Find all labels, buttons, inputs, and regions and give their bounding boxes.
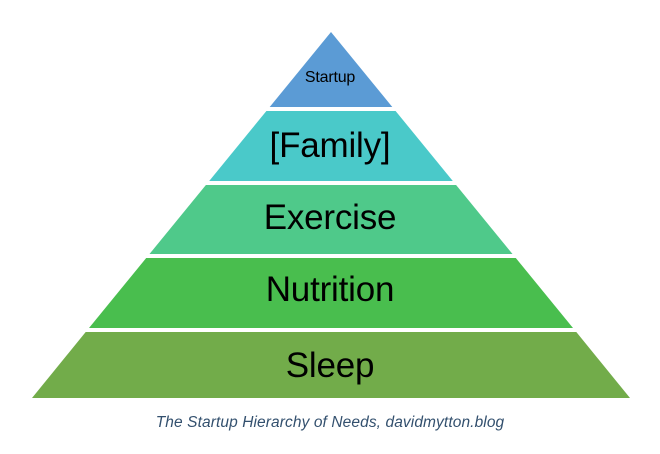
pyramid-tier-4-nutrition[interactable] [89, 258, 573, 328]
pyramid-shape [0, 0, 660, 410]
pyramid-tier-2-family[interactable] [209, 111, 453, 181]
diagram-canvas: Startup [Family] Exercise Nutrition Slee… [0, 0, 660, 454]
pyramid-tier-1-startup[interactable] [270, 32, 393, 107]
diagram-caption: The Startup Hierarchy of Needs, davidmyt… [0, 414, 660, 432]
pyramid-tier-5-sleep[interactable] [32, 332, 630, 398]
pyramid-diagram: Startup [Family] Exercise Nutrition Slee… [0, 0, 660, 410]
pyramid-tier-3-exercise[interactable] [150, 185, 513, 254]
